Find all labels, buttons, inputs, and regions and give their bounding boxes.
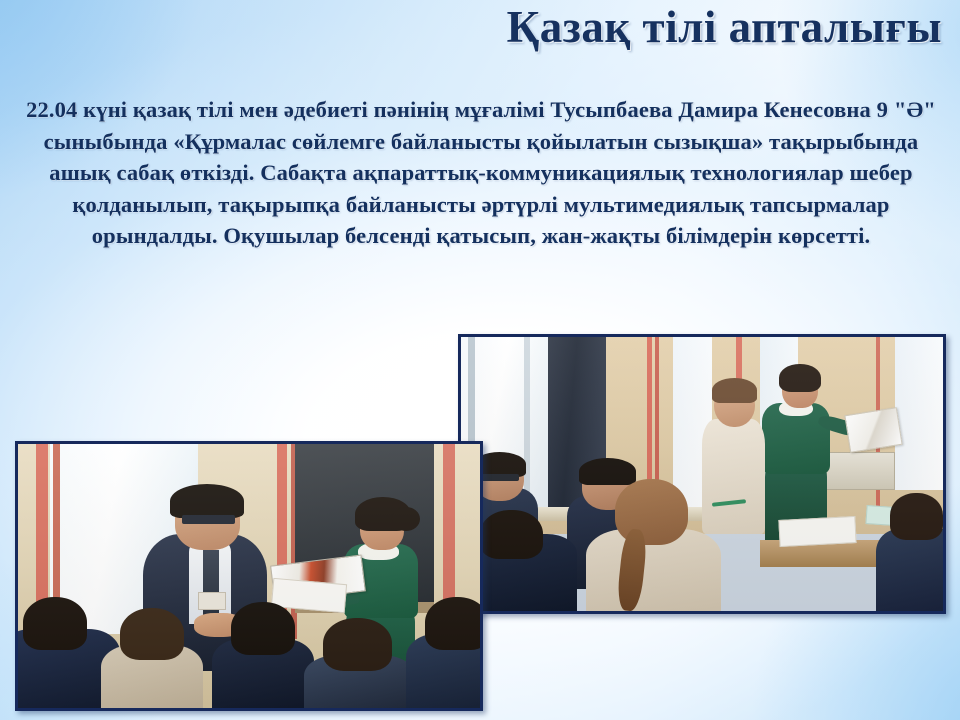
body-block: 22.04 күні қазақ тілі мен әдебиеті пәнін… <box>14 94 948 252</box>
open-book <box>844 407 902 453</box>
wall-socket <box>198 592 226 610</box>
student-girl-hair <box>712 378 758 403</box>
young-man-hair <box>170 484 244 518</box>
photo-left-scene <box>18 444 480 708</box>
right-edge-student <box>876 529 943 611</box>
foreground-student-2-head <box>120 608 185 661</box>
foreground-student-4-head <box>323 618 392 671</box>
student-boy-back-hair <box>579 458 637 485</box>
foreground-student-5-head <box>425 597 480 650</box>
teacher-hair-bun <box>392 507 420 531</box>
classroom-photo-teacher-handing-books <box>15 441 483 711</box>
foreground-student-head <box>480 510 543 559</box>
title-block: Қазақ тілі апталығы <box>322 4 942 52</box>
classroom-photo-students-group-work <box>458 334 946 614</box>
young-man-glasses <box>182 515 235 524</box>
student-boy-glasses <box>480 474 519 481</box>
photo-right-scene <box>461 337 943 611</box>
right-edge-student-head <box>890 493 943 540</box>
window-frame <box>524 337 531 512</box>
page-title: Қазақ тілі апталығы <box>322 4 942 52</box>
body-paragraph: 22.04 күні қазақ тілі мен әдебиеті пәнін… <box>14 94 948 252</box>
window-far-right <box>895 337 943 490</box>
worksheet-paper <box>778 516 856 547</box>
teacher-hair <box>779 364 820 391</box>
student-girl-sweater <box>702 419 765 534</box>
foreground-student-1-head <box>23 597 88 650</box>
foreground-student-3-head <box>231 602 296 655</box>
presentation-slide: Қазақ тілі апталығы 22.04 күні қазақ тіл… <box>0 0 960 720</box>
